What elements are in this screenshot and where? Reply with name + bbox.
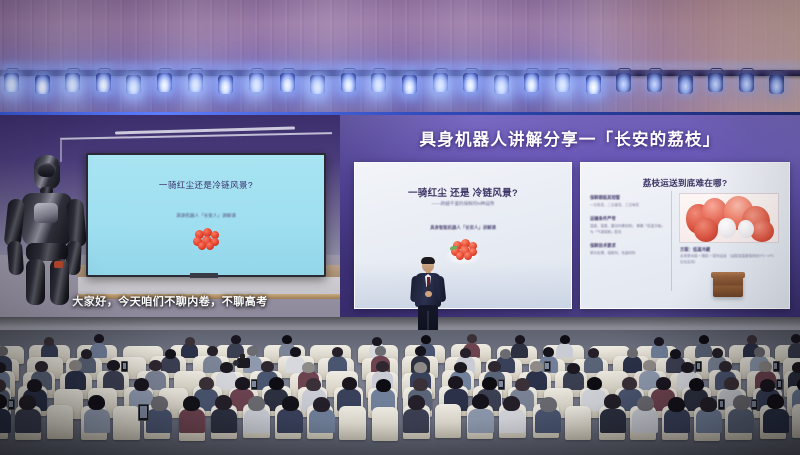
bullet-block: 保鲜期极其短暂一日色变、二日香变、三日味变 — [590, 195, 666, 208]
audience-row — [0, 392, 800, 452]
audience-member-head — [88, 395, 105, 410]
audience-member-head — [376, 361, 389, 372]
audience-member-shoulders — [499, 409, 525, 433]
stage-light — [647, 68, 662, 94]
slide-opening-title: 一骑红尘 还是 冷链风景? — [355, 185, 571, 199]
audience-member-shoulders — [600, 409, 626, 433]
audience-member-head — [515, 335, 525, 344]
audience-member-head — [724, 377, 739, 390]
lychee-cluster-graphic — [191, 227, 221, 249]
audience-member-head — [313, 397, 330, 412]
stage-light — [739, 68, 754, 94]
bullet-block: 运输条件严苛温度、湿度、震动均需控制； 需要「低温冷链」与「气调保鲜」配合 — [590, 216, 666, 235]
audience-member-shoulders — [664, 409, 690, 433]
audience-member — [531, 392, 563, 450]
audience-member-head — [408, 395, 425, 410]
smartphone — [251, 379, 258, 390]
audience-member-shoulders — [0, 409, 11, 433]
audience-member-head — [215, 395, 232, 410]
audience-member-head — [0, 394, 7, 409]
audience-member-head — [414, 362, 427, 373]
audience-member-head — [231, 335, 241, 344]
speaker-presenter — [408, 258, 448, 336]
phone-screen — [778, 381, 781, 388]
audience-member-shoulders — [146, 409, 172, 433]
slide-bottom-fade — [355, 262, 571, 308]
light-head — [769, 75, 784, 94]
audience-member-head — [700, 397, 717, 412]
wooden-crate-graphic — [713, 275, 743, 297]
bullet-lines: 预冷处理、保鲜剂、包装材料 — [590, 251, 666, 256]
stage-light — [402, 70, 417, 96]
humanoid-robot — [6, 155, 102, 305]
conference-hall-photo: 一骑红尘还是冷链风景? 演讲机器人「长安人」讲解课 大家好， — [0, 0, 800, 455]
auditorium-seat — [339, 406, 365, 440]
auditorium-seat — [113, 406, 139, 440]
video-subtitle-caption: 大家好，今天咱们不聊内卷，不聊高考 — [0, 293, 340, 309]
audience-member-head — [733, 395, 750, 410]
phone-screen — [774, 363, 777, 370]
audience-member-head — [637, 396, 654, 411]
audience-member-head — [332, 347, 343, 357]
audience-member — [13, 392, 45, 450]
audience-member-head — [151, 396, 168, 411]
audience-member-shoulders — [15, 409, 41, 433]
stage-light — [280, 68, 295, 94]
audience-member-shoulders — [277, 409, 303, 433]
audience-member-head — [0, 346, 8, 356]
lychee-shell — [694, 218, 718, 242]
phone-screen — [140, 406, 147, 419]
slide-opening-subtitle: ——跨越千里的保鲜的N种运势 — [355, 201, 571, 207]
audience-member — [273, 392, 305, 450]
stage-light — [341, 68, 356, 94]
audience-member-head — [448, 376, 463, 389]
speaker-hand — [425, 291, 432, 297]
audience-member-shoulders — [84, 409, 110, 433]
slide-opening: 一骑红尘 还是 冷链风景? ——跨越千里的保鲜的N种运势 具身智能机器人「长安人… — [354, 162, 572, 309]
stage-light — [616, 68, 631, 94]
light-head — [463, 73, 478, 92]
smartphone — [695, 361, 702, 372]
phone-screen — [752, 401, 755, 408]
stage-light — [157, 68, 172, 94]
light-head — [96, 73, 111, 92]
audience-member-head — [134, 378, 149, 391]
audience-member-head — [27, 379, 42, 392]
lychee-berry — [464, 252, 472, 260]
light-head — [280, 73, 295, 92]
smartphone — [776, 379, 783, 390]
audience-member-head — [342, 377, 357, 390]
phone-screen — [545, 363, 548, 370]
lychee-photo — [679, 193, 779, 243]
audience-member-head — [207, 346, 218, 356]
stage-light — [769, 70, 784, 96]
auditorium-seat — [565, 406, 591, 440]
audience-member-head — [643, 360, 656, 371]
robot-forearm-left — [7, 241, 24, 276]
smartphone — [138, 404, 149, 421]
stage-light — [218, 70, 233, 96]
lychee-berry — [198, 242, 206, 250]
audience-member-shoulders — [468, 409, 494, 433]
audience-member-head — [183, 396, 200, 411]
audience-member-head — [467, 334, 477, 343]
photo-caption-heading: 方案：低温冷藏 — [680, 247, 710, 253]
audience-member-shoulders — [179, 409, 205, 433]
bullet-heading: 保鲜技术要求 — [590, 243, 666, 249]
robot-accent-marker — [54, 261, 63, 268]
audience-member-head — [560, 335, 570, 344]
audience-member-shoulders — [696, 409, 722, 433]
audience-member-head — [588, 348, 599, 358]
lychee-berry — [456, 252, 464, 260]
slide-challenges: 荔枝运送到底难在哪? 保鲜期极其短暂一日色变、二日香变、三日味变运输条件严苛温度… — [580, 162, 790, 309]
speaker-arm-right — [436, 276, 447, 303]
robot-visor — [37, 163, 56, 177]
audience-member-head — [376, 379, 391, 392]
audience-member-head — [622, 377, 637, 390]
camera-lens — [233, 360, 239, 366]
stage-light — [678, 70, 693, 96]
robot-upper-arm-right — [66, 198, 87, 247]
led-video-wall: 一骑红尘还是冷链风景? 演讲机器人「长安人」讲解课 大家好， — [0, 112, 800, 317]
lychee-berry — [206, 242, 214, 250]
stage-floor-shadow — [0, 317, 800, 327]
audience-member — [628, 392, 660, 450]
audience-member-head — [699, 335, 709, 344]
robot-demo-video-feed: 一骑红尘还是冷链风景? 演讲机器人「长安人」讲解课 大家好， — [0, 115, 340, 317]
light-head — [35, 75, 50, 94]
audience-member — [465, 392, 497, 450]
audience-member — [79, 392, 111, 450]
audience-member-head — [282, 396, 299, 411]
audience-member-shoulders — [535, 409, 561, 433]
bullet-heading: 保鲜期极其短暂 — [590, 195, 666, 201]
photo-caption-lines: 去壳带冰袋 + 隔层 + 密封运送 （运配送温度保持在0℃～4℃左右区间） — [680, 254, 775, 265]
audience-member-head — [719, 361, 732, 372]
audience-member-head — [107, 360, 120, 371]
slide-challenges-bullets: 保鲜期极其短暂一日色变、二日香变、三日味变运输条件严苛温度、湿度、震动均需控制；… — [590, 195, 666, 264]
audience-member-head — [760, 379, 775, 392]
audience-member-head — [627, 348, 638, 358]
light-head — [524, 73, 539, 92]
bullet-block: 保鲜技术要求预冷处理、保鲜剂、包装材料 — [590, 243, 666, 256]
camera-mic — [240, 354, 245, 359]
audience-member-shoulders — [763, 409, 789, 433]
stage-light — [463, 68, 478, 94]
light-head — [157, 73, 172, 92]
auditorium-seat — [435, 404, 461, 438]
audience-member-head — [460, 348, 471, 358]
audience-member-shoulders — [728, 409, 754, 433]
smartphone — [121, 361, 128, 372]
phone-screen — [697, 363, 700, 370]
audience-member — [0, 392, 12, 450]
bullet-lines: 一日色变、二日香变、三日味变 — [590, 203, 666, 208]
slide-challenges-title: 荔枝运送到底难在哪? — [581, 177, 789, 189]
light-head — [678, 75, 693, 94]
event-headline: 具身机器人讲解分享一「长安的荔枝」 — [340, 126, 800, 150]
stage-light — [586, 70, 601, 96]
auditorium-seat — [372, 407, 398, 441]
smartphone — [544, 361, 551, 372]
audience-member-head — [792, 362, 800, 373]
audience-member-head — [681, 362, 694, 373]
audience-member — [305, 392, 337, 450]
audience-member-head — [530, 361, 543, 372]
light-head — [402, 75, 417, 94]
light-head — [616, 73, 631, 92]
audience-member-head — [220, 362, 233, 373]
audience-member-head — [248, 396, 265, 411]
audience-member-head — [261, 361, 274, 372]
audience-member-head — [149, 360, 162, 371]
crate-lid — [711, 272, 745, 278]
audience-member-head — [199, 377, 214, 390]
slide-opening-note: 具身智能机器人「长安人」讲解课 — [355, 225, 571, 231]
audience-member — [758, 392, 790, 450]
audience-member — [177, 392, 209, 450]
stage-light — [96, 68, 111, 94]
audience-member — [723, 392, 755, 450]
audience-member-head — [759, 361, 772, 372]
audience-member-head — [69, 360, 82, 371]
audience-member-shoulders — [244, 409, 270, 433]
bullet-heading: 运输条件严苛 — [590, 216, 666, 222]
light-head — [647, 73, 662, 92]
audience-member-shoulders — [211, 409, 237, 433]
audience-member-head — [235, 377, 250, 390]
phone-screen — [123, 363, 126, 370]
audience-member-head — [587, 377, 602, 390]
audience-member-head — [767, 394, 784, 409]
audience-member — [209, 392, 241, 450]
audience-member-head — [247, 346, 258, 356]
stage-light — [524, 68, 539, 94]
audience-member-head — [747, 335, 757, 344]
slide-column-divider — [671, 191, 672, 291]
light-head — [739, 73, 754, 92]
video-camera — [237, 358, 250, 368]
light-head — [341, 73, 356, 92]
audience-member-head — [543, 347, 554, 357]
stage-light — [35, 70, 50, 96]
light-head — [218, 75, 233, 94]
audience-member-head — [668, 397, 685, 412]
audience-member-head — [791, 334, 800, 343]
audience-member-head — [567, 363, 580, 374]
audience-member-head — [415, 346, 426, 356]
audience-member-head — [472, 394, 489, 409]
audience-member-head — [482, 377, 497, 390]
audience-member-head — [656, 377, 671, 390]
tv-stand — [190, 273, 218, 278]
audience-member — [401, 392, 433, 450]
audience-member-head — [269, 377, 284, 390]
audience-member — [497, 392, 529, 450]
tv-slide-subtitle: 演讲机器人「长安人」讲解课 — [88, 213, 324, 219]
audience-member — [241, 392, 273, 450]
speaker-hair — [421, 257, 435, 264]
bullet-lines: 温度、湿度、震动均需控制； 需要「低温冷链」与「气调保鲜」配合 — [590, 224, 666, 235]
audience-member-head — [35, 361, 48, 372]
audience-member-head — [19, 395, 36, 410]
audience-member — [597, 392, 629, 450]
audience-member-head — [488, 361, 501, 372]
audience-member-head — [290, 347, 301, 357]
audience-member-head — [306, 378, 321, 391]
audience-member-head — [375, 346, 386, 356]
auditorium-seat — [47, 405, 73, 439]
audience-member-head — [515, 378, 530, 391]
smartphone — [498, 379, 505, 390]
audience-member-head — [454, 362, 467, 373]
audience-member — [660, 392, 692, 450]
audience-member-head — [754, 347, 765, 357]
tv-slide-title: 一骑红尘还是冷链风景? — [88, 179, 324, 191]
lychee-flesh — [718, 218, 736, 238]
audience-member-shoulders — [309, 409, 335, 433]
phone-screen — [499, 381, 502, 388]
stage-light — [708, 68, 723, 94]
audience-member-head — [604, 394, 621, 409]
phone-screen — [252, 381, 255, 388]
light-head — [586, 75, 601, 94]
audience-member-shoulders — [403, 409, 429, 433]
audience-member — [692, 392, 724, 450]
audience-member-shoulders — [632, 409, 658, 433]
smartphone — [773, 361, 780, 372]
audience-member — [142, 392, 174, 450]
audience-seating — [0, 330, 800, 455]
audience-member-head — [712, 348, 723, 358]
lychee-flesh — [738, 220, 754, 238]
audience-member-head — [689, 378, 704, 391]
audience-member-head — [540, 397, 557, 412]
audience-member-head — [94, 334, 104, 343]
auditorium-seat — [792, 404, 800, 438]
demo-room-tv-screen: 一骑红尘还是冷链风景? 演讲机器人「长安人」讲解课 — [86, 153, 326, 277]
audience-member-head — [413, 378, 428, 391]
light-head — [708, 73, 723, 92]
robot-chest-plate — [34, 203, 58, 223]
audience-member-head — [503, 396, 520, 411]
